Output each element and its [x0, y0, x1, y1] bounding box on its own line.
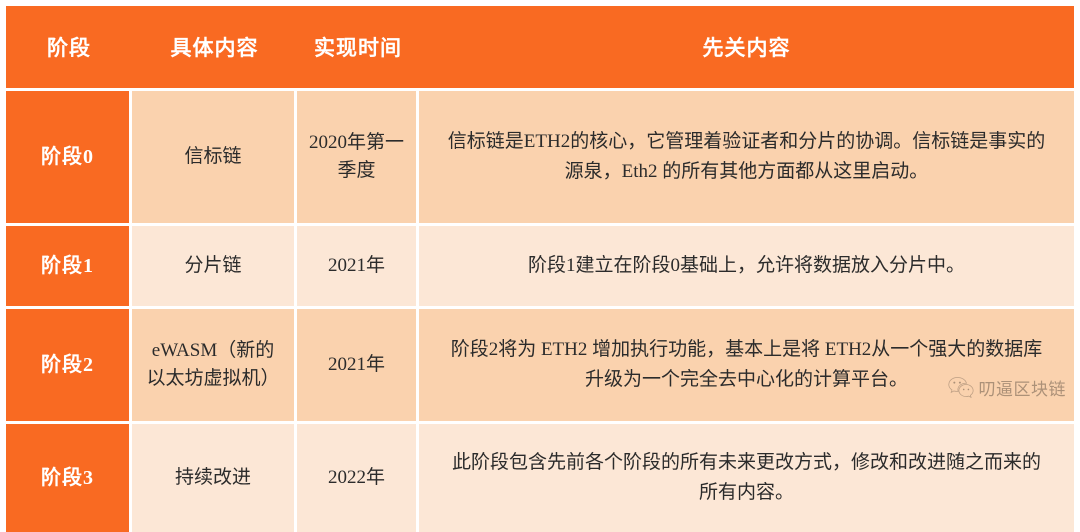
cell-time: 2021年 — [297, 306, 419, 421]
table-header: 阶段 具体内容 实现时间 先关内容 — [6, 6, 1074, 88]
cell-phase: 阶段2 — [6, 306, 132, 421]
column-header-time: 实现时间 — [297, 6, 419, 88]
cell-content: eWASM（新的以太坊虚拟机） — [132, 306, 297, 421]
column-header-content: 具体内容 — [132, 6, 297, 88]
cell-description: 阶段1建立在阶段0基础上，允许将数据放入分片中。 — [419, 223, 1074, 306]
table-row: 阶段3 持续改进 2022年 此阶段包含先前各个阶段的所有未来更改方式，修改和改… — [6, 421, 1074, 532]
cell-description: 阶段2将为 ETH2 增加执行功能，基本上是将 ETH2从一个强大的数据库升级为… — [419, 306, 1074, 421]
eth2-phase-table: 阶段 具体内容 实现时间 先关内容 阶段0 信标链 2020年第一季度 信标链是… — [6, 6, 1074, 532]
table-row: 阶段1 分片链 2021年 阶段1建立在阶段0基础上，允许将数据放入分片中。 — [6, 223, 1074, 306]
table-row: 阶段2 eWASM（新的以太坊虚拟机） 2021年 阶段2将为 ETH2 增加执… — [6, 306, 1074, 421]
column-header-phase: 阶段 — [6, 6, 132, 88]
header-row: 阶段 具体内容 实现时间 先关内容 — [6, 6, 1074, 88]
phase-table-container: 阶段 具体内容 实现时间 先关内容 阶段0 信标链 2020年第一季度 信标链是… — [0, 0, 1080, 447]
column-header-desc: 先关内容 — [419, 6, 1074, 88]
cell-time: 2022年 — [297, 421, 419, 532]
table-row: 阶段0 信标链 2020年第一季度 信标链是ETH2的核心，它管理着验证者和分片… — [6, 88, 1074, 223]
cell-description: 信标链是ETH2的核心，它管理着验证者和分片的协调。信标链是事实的源泉，Eth2… — [419, 88, 1074, 223]
cell-phase: 阶段3 — [6, 421, 132, 532]
cell-description: 此阶段包含先前各个阶段的所有未来更改方式，修改和改进随之而来的所有内容。 — [419, 421, 1074, 532]
cell-content: 分片链 — [132, 223, 297, 306]
cell-time: 2021年 — [297, 223, 419, 306]
cell-phase: 阶段1 — [6, 223, 132, 306]
cell-phase: 阶段0 — [6, 88, 132, 223]
table-body: 阶段0 信标链 2020年第一季度 信标链是ETH2的核心，它管理着验证者和分片… — [6, 88, 1074, 532]
cell-content: 持续改进 — [132, 421, 297, 532]
cell-time: 2020年第一季度 — [297, 88, 419, 223]
cell-content: 信标链 — [132, 88, 297, 223]
